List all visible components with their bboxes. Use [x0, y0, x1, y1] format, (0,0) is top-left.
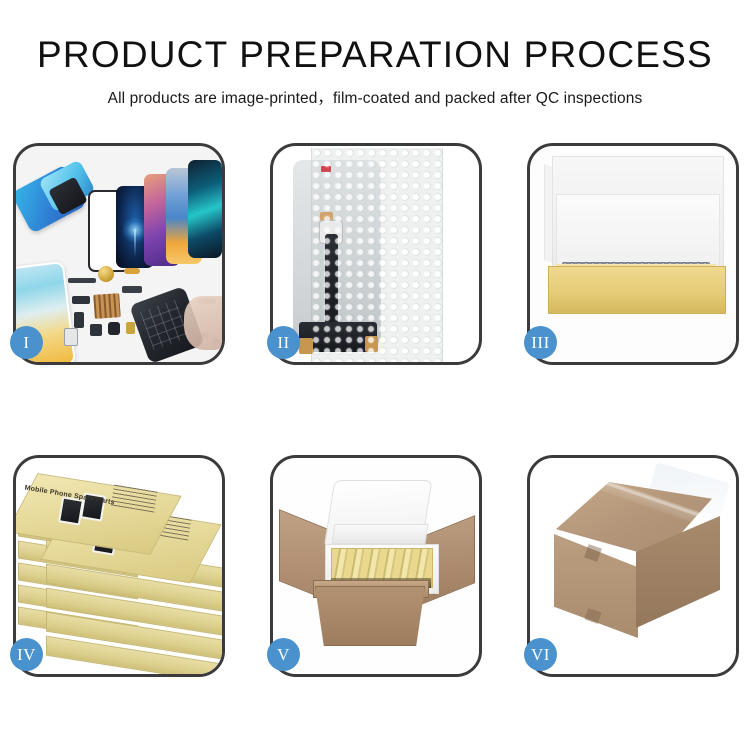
step-badge-1: I [10, 326, 43, 359]
bubble-wrapped-screen-illustration [273, 146, 479, 362]
sim-tray-part [64, 328, 78, 346]
page-header: PRODUCT PREPARATION PROCESS All products… [0, 0, 750, 108]
step-badge-3: III [524, 326, 557, 359]
earpiece-mesh-part [68, 278, 96, 283]
process-step-panel-6[interactable] [527, 455, 739, 677]
taptic-part [108, 322, 120, 335]
process-step-panel-5[interactable] [270, 455, 482, 677]
step-badge-5: V [267, 638, 300, 671]
step-badge-2: II [267, 326, 300, 359]
camera-module-part [74, 312, 84, 328]
step-badge-4: IV [10, 638, 43, 671]
speaker-part [90, 324, 102, 336]
flex-cable-image [325, 234, 338, 330]
styrofoam-lid-edge [331, 524, 428, 544]
flex-connector-tan-right [365, 336, 378, 352]
phone-parts-illustration [16, 146, 222, 362]
process-step-panel-2[interactable] [270, 143, 482, 365]
process-step-panel-3[interactable] [527, 143, 739, 365]
step-badge-6: VI [524, 638, 557, 671]
carton-body [315, 586, 425, 646]
connector-chip-image [93, 293, 121, 319]
technician-hand-image [184, 296, 222, 350]
gold-flex-part [124, 268, 140, 274]
red-label-tab [321, 166, 331, 172]
process-step-grid: Mobile Phone Spare Parts Mobile Phone Sp… [13, 143, 739, 677]
kraft-box-tray [548, 266, 726, 314]
small-flex-part [72, 296, 90, 304]
sealed-carton-illustration [530, 458, 736, 674]
page-subtitle: All products are image-printed，film-coat… [0, 75, 750, 108]
teal-swirl-phone-image [188, 160, 222, 258]
gold-contact-part [126, 322, 135, 334]
page-title: PRODUCT PREPARATION PROCESS [0, 0, 750, 75]
vibration-motor-image [98, 266, 114, 282]
power-flex-part [122, 286, 142, 293]
carton-with-insert-illustration [273, 458, 479, 674]
open-foam-box-illustration [530, 146, 736, 362]
flex-connector-tan-left [299, 338, 313, 354]
box-lid-front [556, 194, 720, 270]
process-step-panel-4[interactable]: Mobile Phone Spare Parts Mobile Phone Sp… [13, 455, 225, 677]
process-step-panel-1[interactable] [13, 143, 225, 365]
stacked-boxes-illustration: Mobile Phone Spare Parts Mobile Phone Sp… [16, 458, 222, 674]
